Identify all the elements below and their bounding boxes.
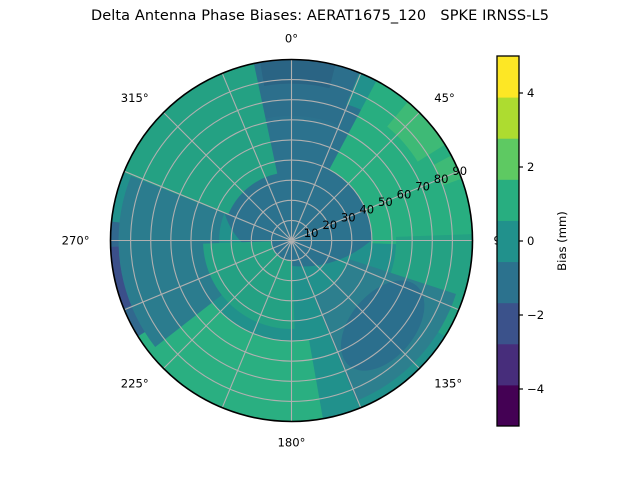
colorbar-tick-label-1: −2	[527, 308, 544, 322]
theta-tick-270: 270°	[62, 234, 90, 248]
colorbar-tick-label-0: −4	[527, 382, 544, 396]
colorbar-band-8	[497, 56, 519, 98]
figure-canvas: Delta Antenna Phase Biases: AERAT1675_12…	[0, 0, 640, 480]
r-tick-40: 40	[359, 203, 374, 217]
r-tick-60: 60	[397, 187, 412, 201]
colorbar-band-2	[497, 303, 519, 345]
colorbar-band-1	[497, 344, 519, 386]
colorbar: −4−2024 Bias (mm)	[497, 56, 569, 427]
r-tick-70: 70	[415, 180, 430, 194]
r-tick-90: 90	[452, 164, 467, 178]
colorbar-band-4	[497, 220, 519, 262]
polar-grid-layer	[111, 60, 473, 422]
theta-tick-180: 180°	[278, 436, 306, 450]
colorbar-tick-label-3: 2	[527, 160, 534, 174]
theta-tick-45: 45°	[434, 91, 455, 105]
theta-tick-0: 0°	[285, 32, 298, 46]
colorbar-axis-label: Bias (mm)	[555, 211, 569, 271]
colorbar-tick-label-2: 0	[527, 234, 534, 248]
colorbar-band-0	[497, 385, 519, 427]
r-tick-20: 20	[322, 218, 337, 232]
theta-tick-225: 225°	[121, 377, 149, 391]
r-tick-30: 30	[341, 210, 356, 224]
polar-contour-plot: 0°45°90°135°180°225°270°315° 10203040506…	[0, 0, 640, 480]
colorbar-band-3	[497, 262, 519, 304]
colorbar-bands	[497, 56, 519, 427]
colorbar-band-5	[497, 179, 519, 221]
theta-tick-135: 135°	[434, 377, 462, 391]
r-tick-50: 50	[378, 195, 393, 209]
r-tick-80: 80	[434, 172, 449, 186]
colorbar-tick-label-4: 4	[527, 86, 534, 100]
colorbar-ticks: −4−2024	[519, 86, 544, 396]
colorbar-band-6	[497, 138, 519, 180]
colorbar-band-7	[497, 97, 519, 139]
theta-tick-315: 315°	[121, 91, 149, 105]
r-tick-10: 10	[304, 226, 319, 240]
